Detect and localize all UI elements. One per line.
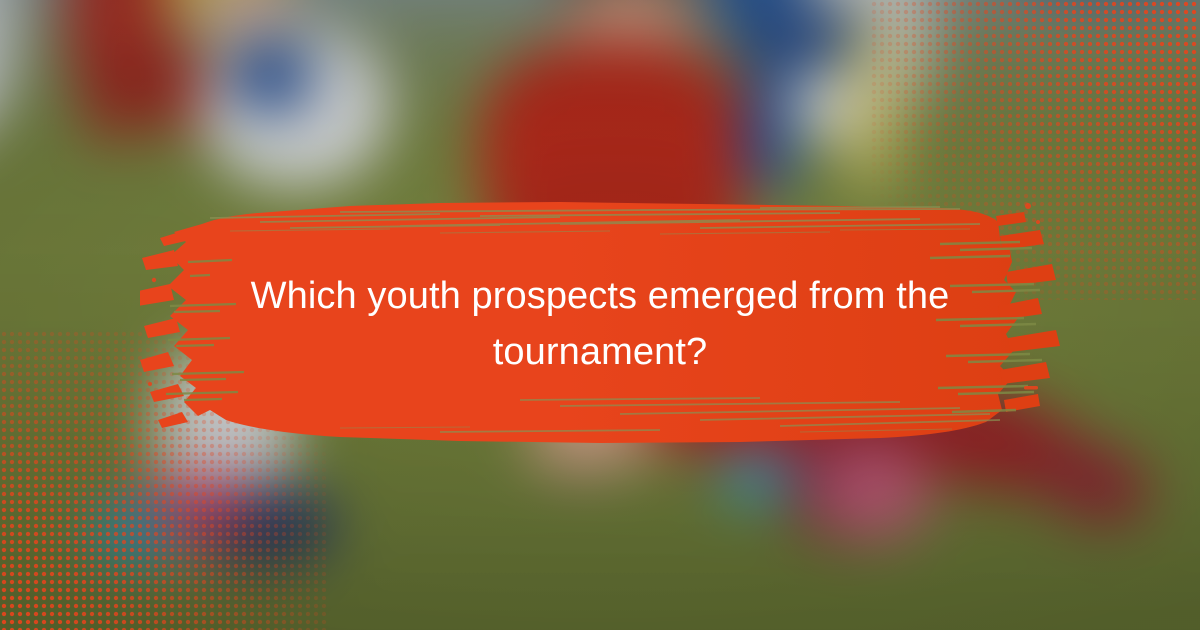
- page-title: Which youth prospects emerged from the t…: [195, 268, 1005, 380]
- question-card: Which youth prospects emerged from the t…: [0, 0, 1200, 630]
